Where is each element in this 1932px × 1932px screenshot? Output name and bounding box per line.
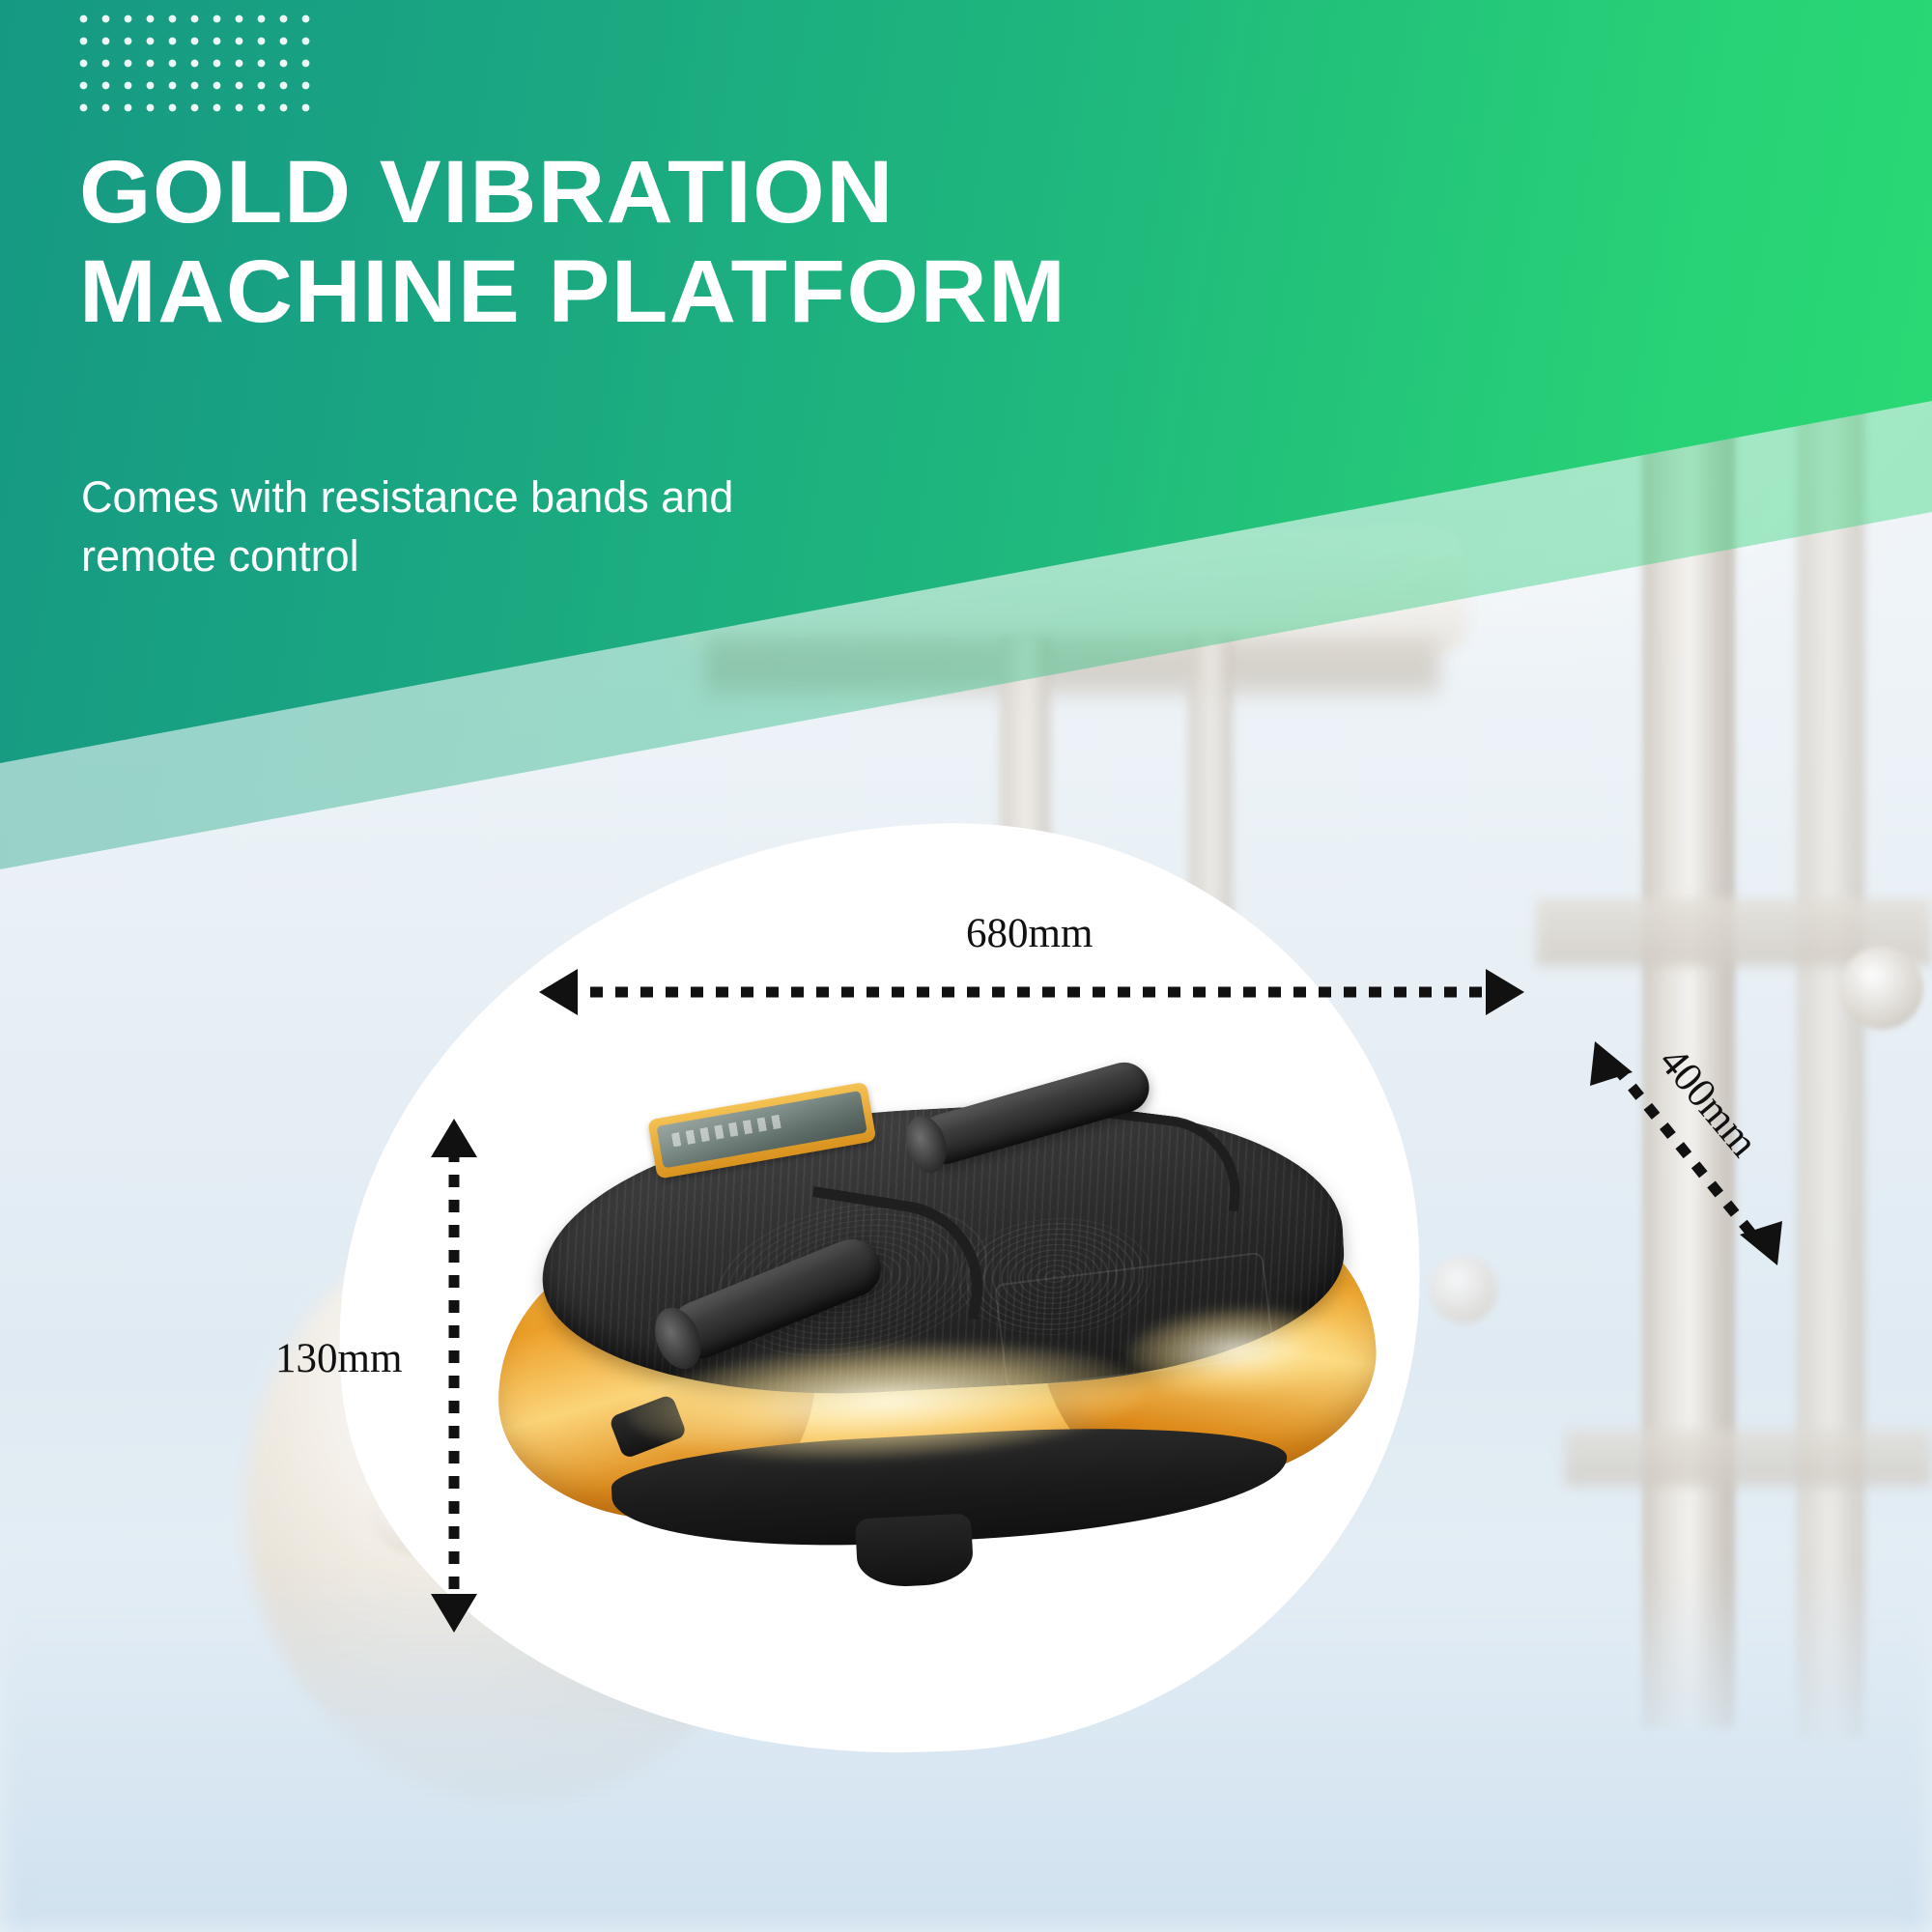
gym-pulley-wheel-secondary — [1430, 1256, 1497, 1323]
dimension-label-height: 130mm — [275, 1335, 402, 1382]
product-foot-center — [855, 1513, 975, 1588]
gym-pulley-wheel — [1840, 947, 1923, 1030]
product-banner-canvas: GOLD VIBRATION MACHINE PLATFORM Comes wi… — [0, 0, 1932, 1932]
subtitle-line-2: remote control — [81, 527, 1009, 586]
headline-line-2: MACHINE PLATFORM — [79, 242, 1205, 342]
dimension-label-width: 680mm — [966, 910, 1093, 957]
dot-grid-icon — [72, 8, 316, 122]
product-image-vibration-plate — [475, 1059, 1399, 1607]
headline-line-1: GOLD VIBRATION — [79, 143, 895, 241]
page-title: GOLD VIBRATION MACHINE PLATFORM — [79, 143, 1205, 342]
gym-crossbar-lower — [1565, 1430, 1932, 1486]
subtitle: Comes with resistance bands and remote c… — [81, 469, 1009, 586]
subtitle-line-1: Comes with resistance bands and — [81, 472, 733, 522]
gym-bench-rail-right — [1188, 638, 1233, 927]
